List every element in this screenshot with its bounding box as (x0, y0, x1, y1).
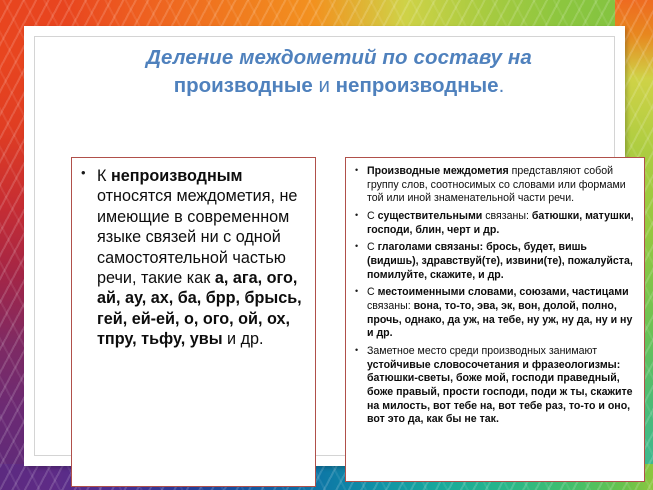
body-text: К (97, 167, 111, 185)
slide-content-panel: Деление междометий по составу на произво… (24, 26, 625, 466)
body-text: и др. (223, 330, 264, 348)
body-text: С (367, 210, 378, 222)
slide-title-period: . (499, 74, 505, 97)
body-text: связаны: (367, 300, 414, 312)
body-text: Заметное место среди производных занимаю… (367, 345, 597, 357)
derived-content: Производные междометия представляют собо… (352, 165, 636, 427)
list-item: С глаголами связаны: брось, будет, вишь … (352, 241, 636, 282)
slide-content-panel-inner-border: Деление междометий по составу на произво… (34, 36, 615, 456)
presentation-slide: Деление междометий по составу на произво… (0, 0, 653, 490)
derived-bullet-list: Производные междометия представляют собо… (352, 165, 636, 427)
textbox-derived-interjections: Производные междометия представляют собо… (345, 157, 645, 482)
slide-title-conjunction: и (313, 74, 336, 97)
non-derived-content: К непроизводным относятся междометия, не… (78, 166, 307, 350)
body-text: связаны: (482, 210, 532, 222)
slide-title-term-nonderived: непроизводные (336, 74, 499, 97)
emphasis-text: устойчивые словосочетания и фразеологизм… (367, 359, 633, 426)
emphasis-text: местоименными словами, союзами, частицам… (378, 286, 629, 298)
slide-title: Деление междометий по составу на произво… (69, 45, 609, 98)
body-text: С (367, 241, 378, 253)
emphasis-text: существительными (378, 210, 483, 222)
list-item: С существительными связаны: батюшки, мат… (352, 210, 636, 237)
textbox-non-derived-interjections: К непроизводным относятся междометия, не… (71, 157, 316, 487)
list-item: К непроизводным относятся междометия, не… (78, 166, 307, 350)
emphasis-text: непроизводным (111, 167, 243, 185)
list-item: С местоименными словами, союзами, частиц… (352, 286, 636, 341)
slide-title-line-1: Деление междометий по составу на (69, 45, 609, 71)
slide-title-line-2: производные и непроизводные. (69, 73, 609, 99)
non-derived-bullet-list: К непроизводным относятся междометия, не… (78, 166, 307, 350)
slide-title-term-derived: производные (174, 74, 313, 97)
list-item: Производные междометия представляют собо… (352, 165, 636, 206)
body-text: С (367, 286, 378, 298)
list-item: Заметное место среди производных занимаю… (352, 345, 636, 427)
emphasis-text: глаголами связаны: брось, будет, вишь (в… (367, 241, 633, 280)
emphasis-text: Производные междометия (367, 165, 509, 177)
